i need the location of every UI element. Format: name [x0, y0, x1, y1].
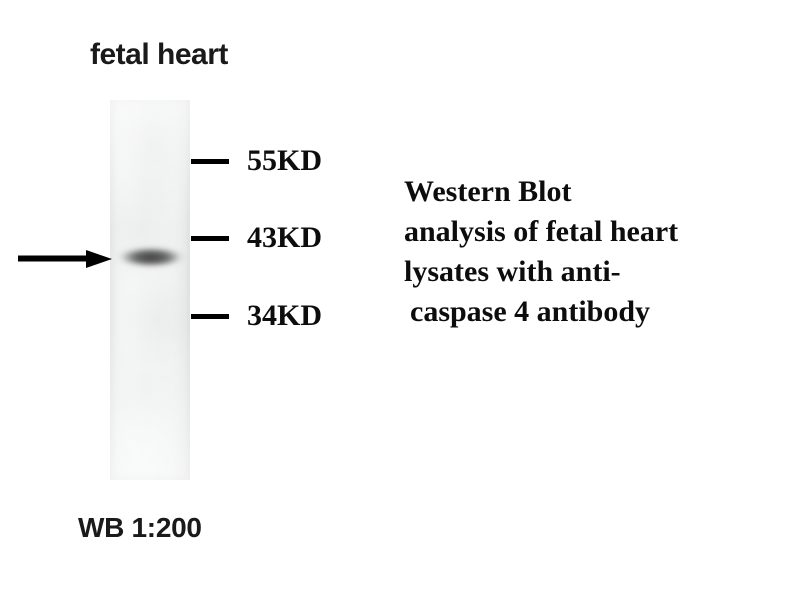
marker-label-43kd: 43KD [247, 223, 322, 253]
marker-label-34kd: 34KD [247, 301, 322, 331]
caption-line-3: lysates with anti- [404, 252, 784, 292]
marker-tick-43kd [191, 236, 229, 241]
protein-band-core [122, 250, 180, 265]
marker-tick-34kd [191, 314, 229, 319]
lane-haze-bottom [110, 328, 190, 480]
figure-caption: Western Blot analysis of fetal heart lys… [404, 172, 784, 332]
dilution-label: WB 1:200 [78, 512, 202, 544]
marker-tick-55kd [191, 159, 229, 164]
arrow-right-icon [18, 250, 112, 268]
caption-line-4: caspase 4 antibody [404, 292, 784, 332]
marker-label-55kd: 55KD [247, 146, 322, 176]
caption-line-2: analysis of fetal heart [404, 212, 784, 252]
lane-label-fetal-heart: fetal heart [90, 38, 228, 72]
caption-line-1: Western Blot [404, 172, 784, 212]
blot-lane [110, 100, 190, 480]
western-blot-figure: fetal heart 55KD 43KD 34KD Western Blot … [0, 0, 800, 600]
band-pointer-arrow [18, 250, 112, 268]
lane-haze-top [110, 100, 190, 229]
